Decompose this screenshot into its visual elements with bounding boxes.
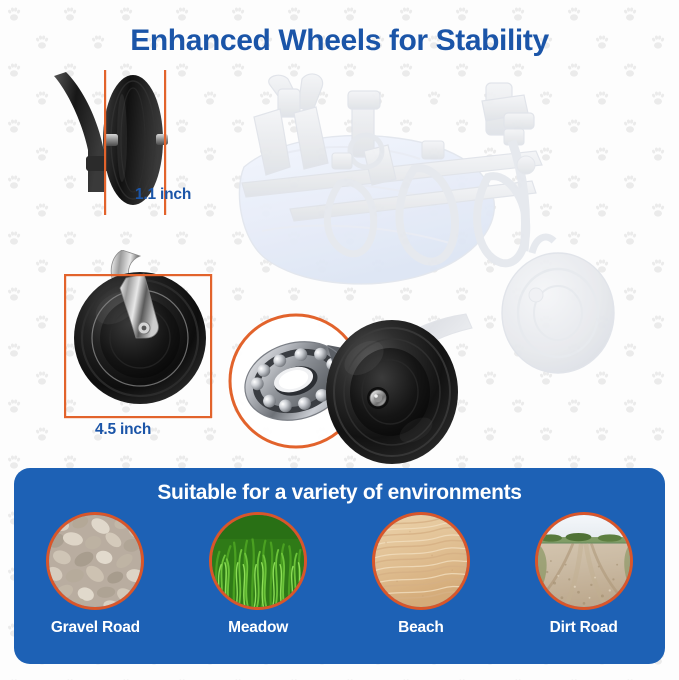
- page-title: Enhanced Wheels for Stability: [0, 24, 679, 58]
- product-infographic: Enhanced Wheels for Stability: [0, 0, 679, 680]
- grass-texture-icon: [212, 515, 304, 607]
- measurement-label-wheel-diameter: 4.5 inch: [95, 421, 151, 439]
- environment-item-meadow[interactable]: Meadow: [183, 512, 333, 637]
- sand-texture-icon: [375, 515, 467, 607]
- environment-label-meadow: Meadow: [228, 619, 288, 637]
- environment-label-gravel-road: Gravel Road: [51, 619, 140, 637]
- environment-item-gravel-road[interactable]: Gravel Road: [20, 512, 170, 637]
- environments-panel-title: Suitable for a variety of environments: [14, 481, 665, 505]
- environment-item-beach[interactable]: Beach: [346, 512, 496, 637]
- meadow-image: [209, 512, 307, 610]
- beach-image: [372, 512, 470, 610]
- environments-panel: Suitable for a variety of environments: [14, 468, 665, 664]
- environment-label-dirt-road: Dirt Road: [550, 619, 618, 637]
- measurement-label-wheel-width: 1.1 inch: [135, 186, 191, 204]
- gravel-road-image: [46, 512, 144, 610]
- wheel-side-view-image: [48, 70, 218, 215]
- gravel-texture-icon: [49, 515, 141, 607]
- environment-items-row: Gravel Road: [14, 512, 665, 662]
- dirt-road-texture-icon: [538, 515, 630, 607]
- environment-item-dirt-road[interactable]: Dirt Road: [509, 512, 659, 637]
- dirt-road-image: [535, 512, 633, 610]
- wheel-with-bearing-image: [320, 310, 490, 470]
- environment-label-beach: Beach: [398, 619, 444, 637]
- wheel-front-view-image: [60, 250, 230, 425]
